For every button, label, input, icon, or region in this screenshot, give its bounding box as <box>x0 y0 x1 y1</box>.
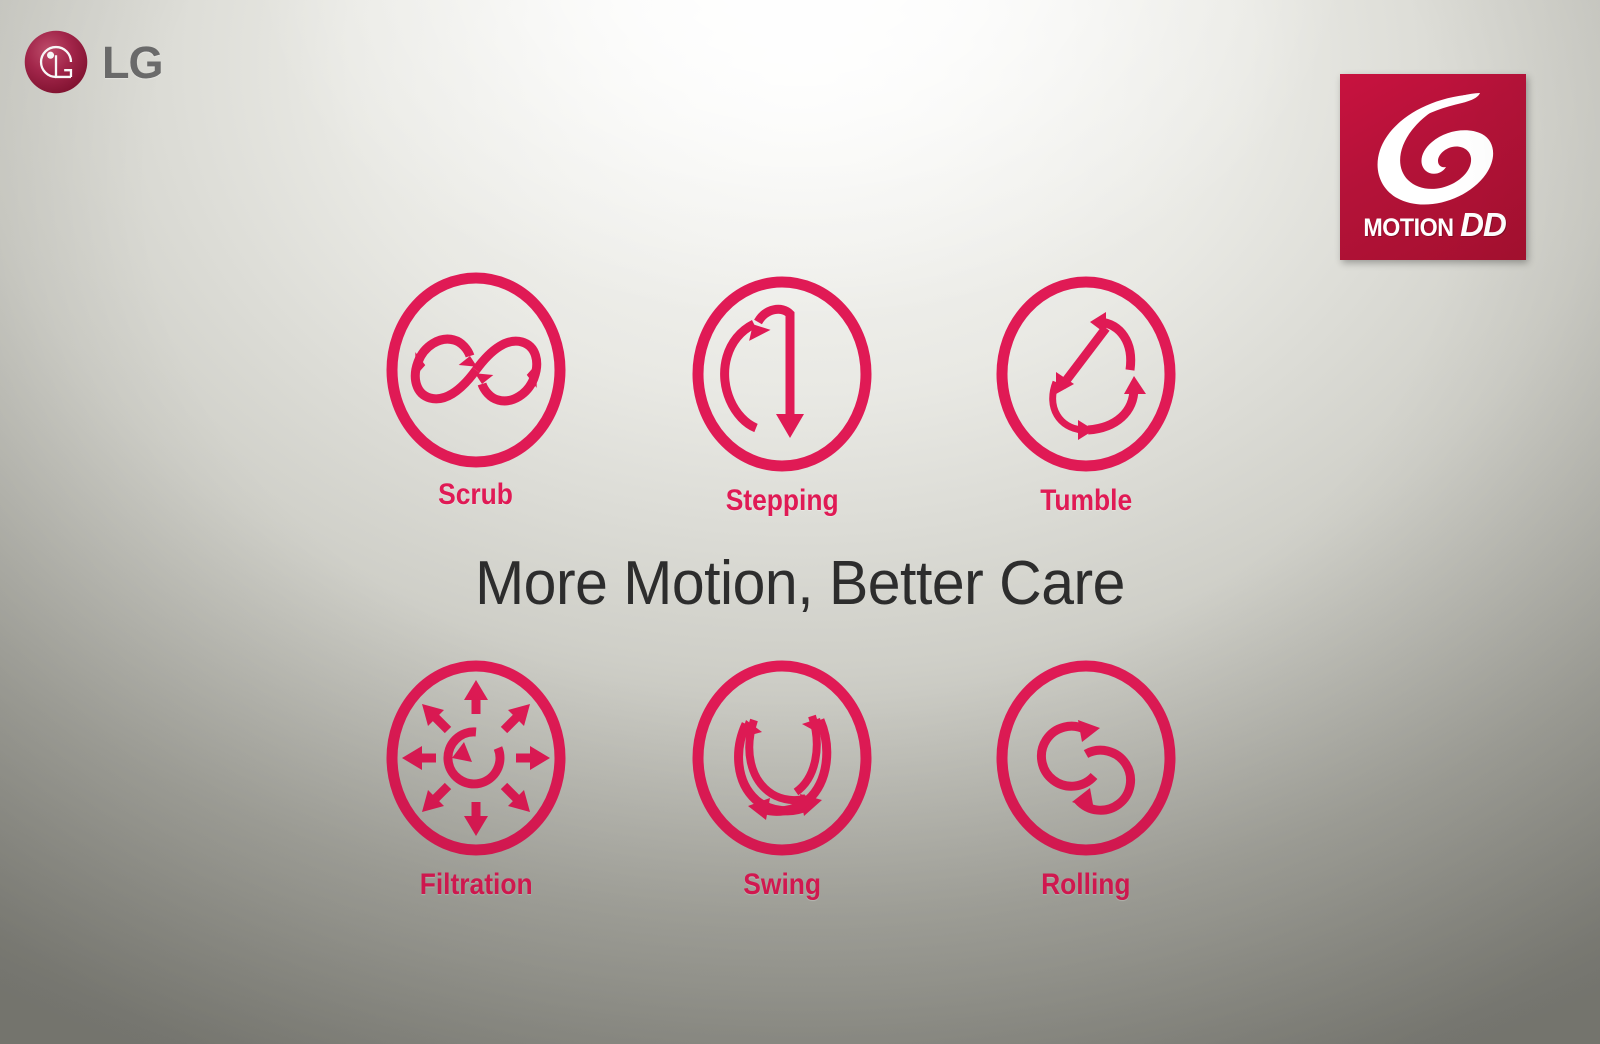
lg-wordmark: LG <box>102 40 163 85</box>
motion-label: Swing <box>743 868 821 902</box>
lg-logo: LG <box>22 28 163 96</box>
six-motion-dd-badge: MOTION DD <box>1340 74 1526 260</box>
tumble-arrows-icon <box>990 274 1182 478</box>
radial-arrows-icon <box>380 658 572 862</box>
swing-arrows-icon <box>686 658 878 862</box>
motion-item-filtration[interactable]: Filtration <box>366 658 586 902</box>
double-circle-arrows-icon <box>990 658 1182 862</box>
motion-item-tumble[interactable]: Tumble <box>976 274 1196 518</box>
motion-label: Filtration <box>420 868 533 902</box>
motion-item-scrub[interactable]: Scrub <box>366 268 586 512</box>
motion-item-swing[interactable]: Swing <box>672 658 892 902</box>
slide-canvas: LG MOTION DD <box>0 0 1600 1044</box>
motion-item-stepping[interactable]: Stepping <box>672 274 892 518</box>
motion-label: Scrub <box>439 478 514 512</box>
motion-label: Stepping <box>726 484 839 518</box>
step-arrow-icon <box>686 274 878 478</box>
motion-label: Rolling <box>1041 868 1130 902</box>
lg-circle-face-icon <box>22 28 90 96</box>
stylized-six-icon <box>1358 82 1508 210</box>
badge-text-row: MOTION DD <box>1360 206 1506 244</box>
page-title: More Motion, Better Care <box>40 548 1560 619</box>
infinity-arrows-icon <box>380 268 572 472</box>
badge-dd-label: DD <box>1460 206 1506 244</box>
motion-label: Tumble <box>1040 484 1132 518</box>
badge-motion-label: MOTION <box>1364 214 1454 243</box>
motion-item-rolling[interactable]: Rolling <box>976 658 1196 902</box>
